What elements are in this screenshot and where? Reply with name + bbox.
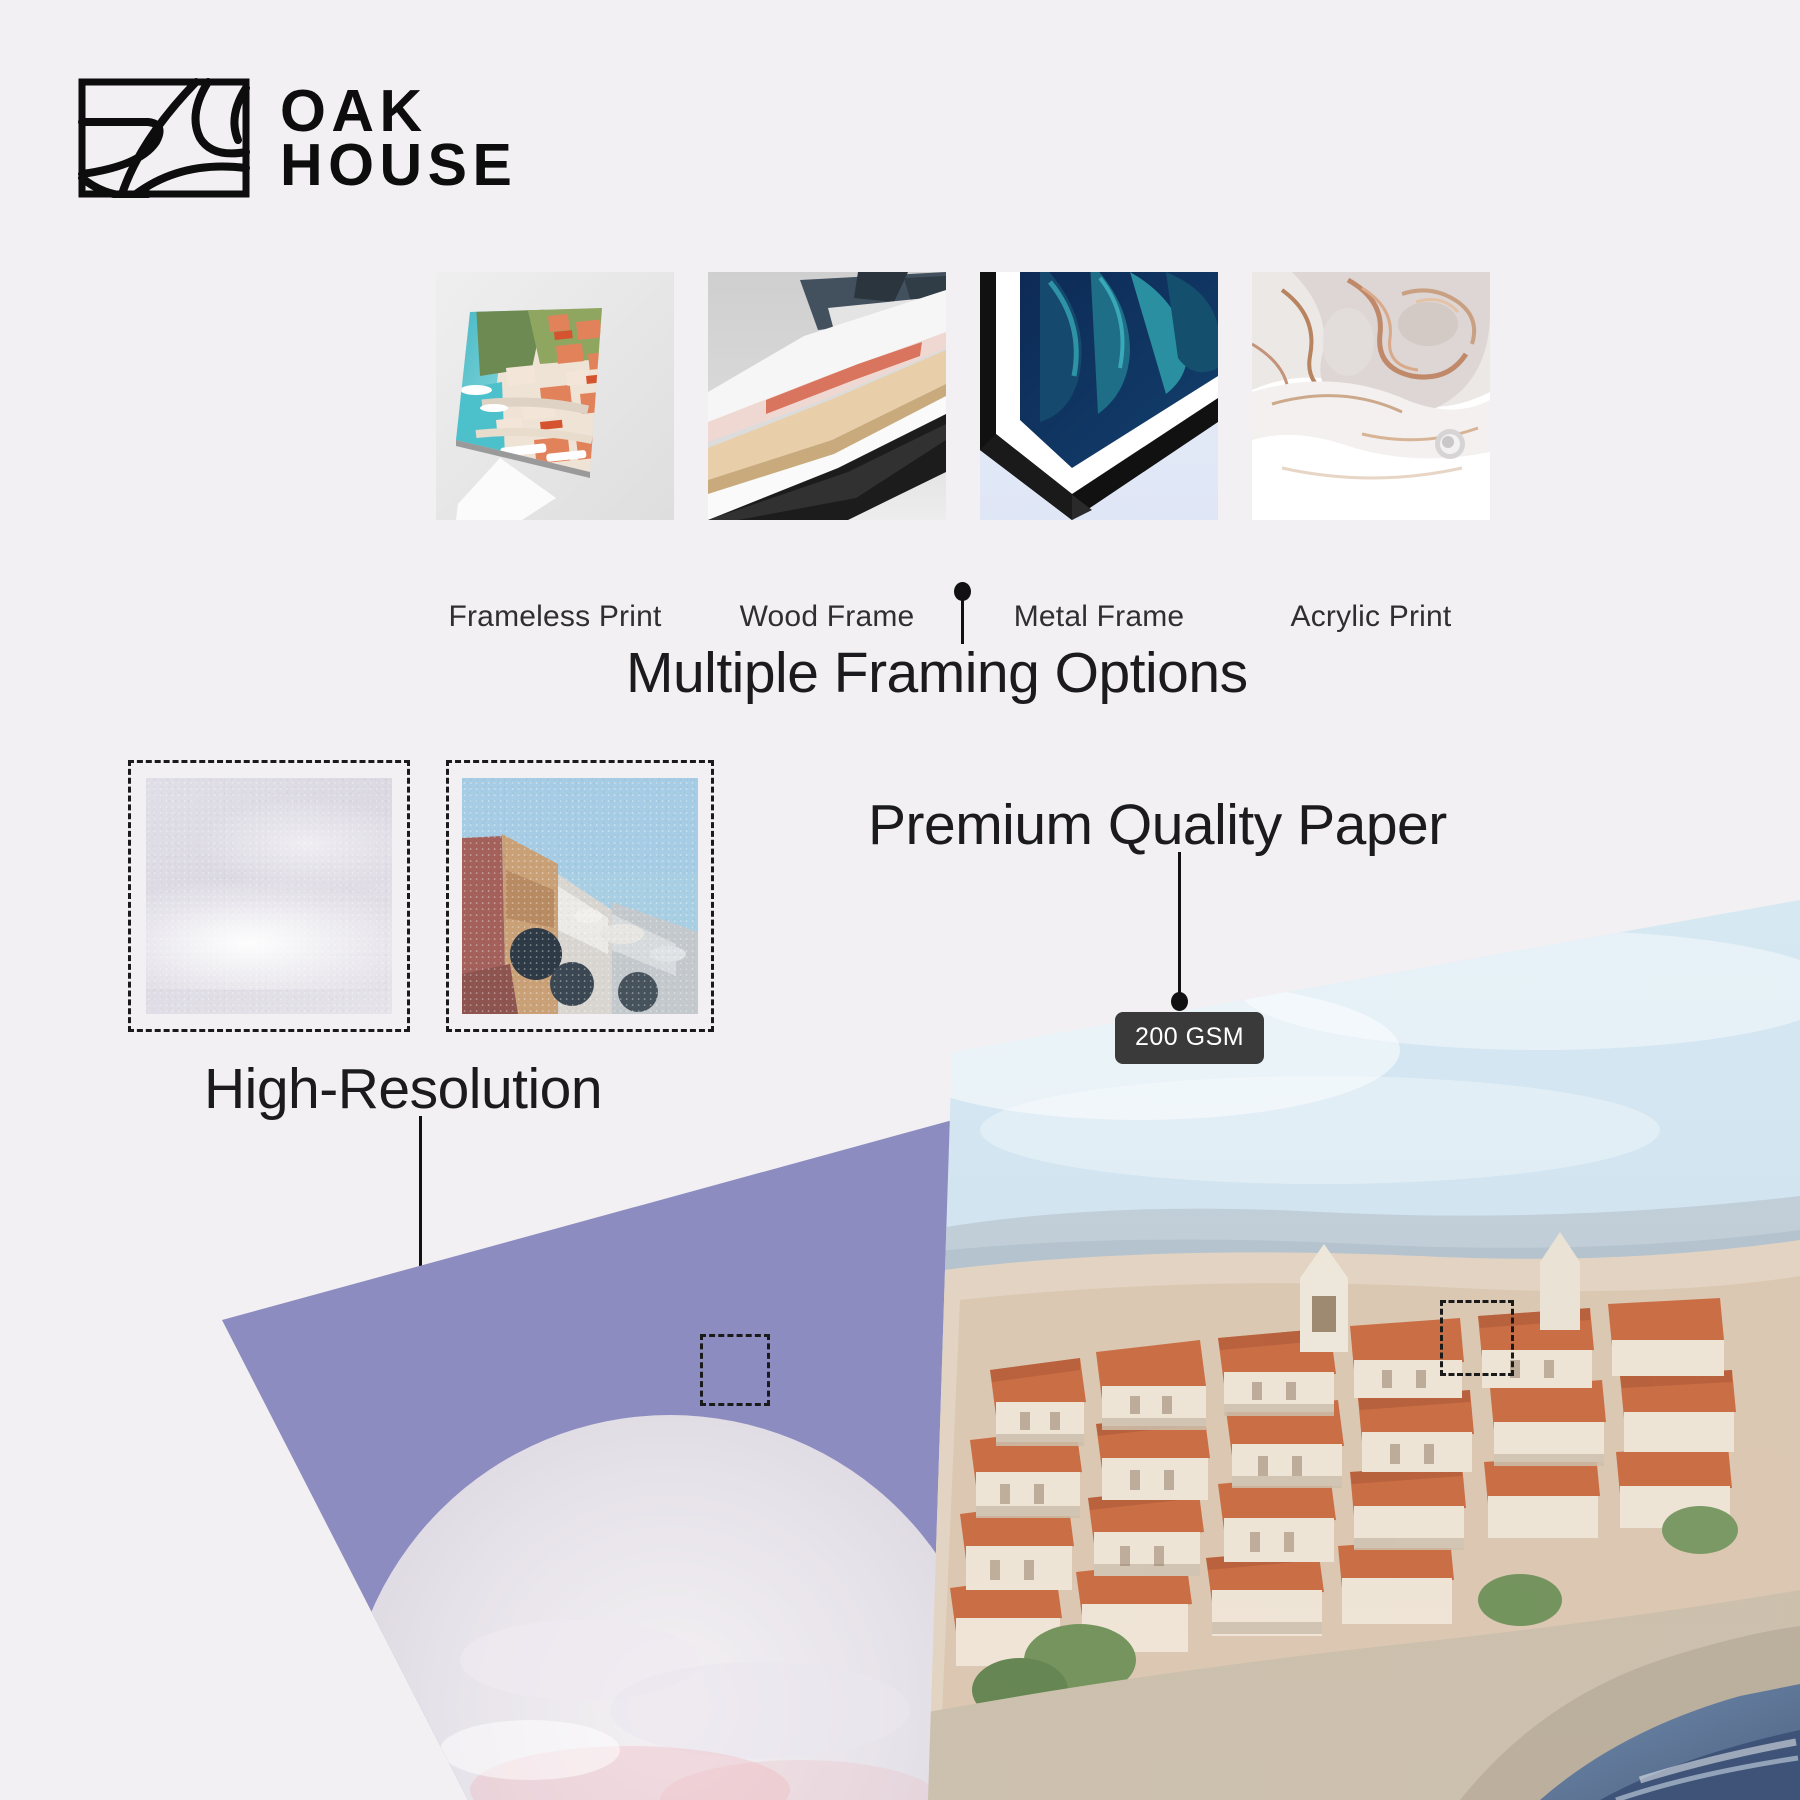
paper-headline: Premium Quality Paper (868, 792, 1447, 858)
framing-thumb-acrylic-print[interactable] (1252, 272, 1490, 520)
framing-thumb-frameless-print[interactable] (436, 272, 674, 520)
framing-thumb-wood-frame[interactable] (708, 272, 946, 520)
paper-callout-line (1178, 852, 1181, 1000)
framing-label-acrylic-print: Acrylic Print (1221, 600, 1521, 634)
brand-name-line1: OAK (280, 84, 517, 138)
paper-badge-200gsm: 200 GSM (1115, 1012, 1264, 1064)
infographic-canvas: OAK HOUSE (0, 0, 1800, 1800)
brand-logo: OAK HOUSE (78, 78, 517, 198)
framing-label-wood-frame: Wood Frame (677, 600, 977, 634)
framing-label-metal-frame: Metal Frame (949, 600, 1249, 634)
paper-detail-marker (1440, 1300, 1514, 1376)
resolution-swatch-right (462, 778, 698, 1014)
resolution-detail-marker (700, 1334, 770, 1406)
framing-thumb-metal-frame[interactable] (980, 272, 1218, 520)
brand-name-line2: HOUSE (280, 138, 517, 192)
framing-headline: Multiple Framing Options (626, 640, 1248, 706)
framing-callout-line (961, 598, 964, 644)
abstract-landscape-mark (78, 78, 250, 198)
framing-label-frameless-print: Frameless Print (405, 600, 705, 634)
paper-callout-dot (1171, 992, 1188, 1011)
resolution-swatch-left (146, 778, 392, 1014)
coastal-town-print-artwork (900, 900, 1800, 1800)
purple-poster-artwork (200, 1100, 960, 1800)
